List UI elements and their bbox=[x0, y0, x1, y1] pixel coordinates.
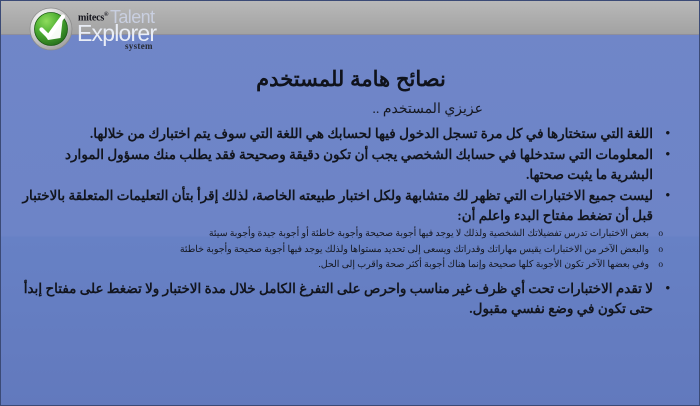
main-bullet-list: اللغة التي ستختارها في كل مرة تسجل الدخو… bbox=[21, 124, 673, 225]
list-item: اللغة التي ستختارها في كل مرة تسجل الدخو… bbox=[21, 124, 673, 144]
page-title: نصائح هامة للمستخدم bbox=[35, 67, 667, 92]
salutation-text: عزيزي المستخدم .. bbox=[1, 101, 663, 118]
list-item: وفي بعضها الآخر تكون الأجوبة كلها صحيحة … bbox=[27, 258, 665, 273]
green-check-badge-icon bbox=[29, 7, 73, 51]
list-item: ليست جميع الاختبارات التي تظهر لك متشابه… bbox=[21, 186, 673, 226]
closing-bullet-list: لا تقدم الاختبارات تحت أي ظرف غير مناسب … bbox=[21, 279, 673, 319]
list-item: لا تقدم الاختبارات تحت أي ظرف غير مناسب … bbox=[21, 279, 673, 319]
presentation-slide: mitecs® Talent Explorer system نصائح هام… bbox=[0, 0, 700, 406]
brand-system: system bbox=[125, 41, 153, 51]
list-item: والبعض الآخر من الاختبارات يقيس مهاراتك … bbox=[27, 243, 665, 258]
slide-content: نصائح هامة للمستخدم عزيزي المستخدم .. ال… bbox=[1, 57, 700, 406]
registered-mark-icon: ® bbox=[104, 12, 108, 18]
list-item: بعض الاختبارات تدرس تفضيلاتك الشخصية ولذ… bbox=[27, 227, 665, 242]
brand-wordmark: mitecs® Talent Explorer system bbox=[75, 3, 205, 55]
sub-bullet-list: بعض الاختبارات تدرس تفضيلاتك الشخصية ولذ… bbox=[27, 227, 665, 273]
brand-logo[interactable]: mitecs® Talent Explorer system bbox=[23, 3, 203, 55]
list-item: المعلومات التي ستدخلها في حسابك الشخصي ي… bbox=[21, 145, 673, 185]
